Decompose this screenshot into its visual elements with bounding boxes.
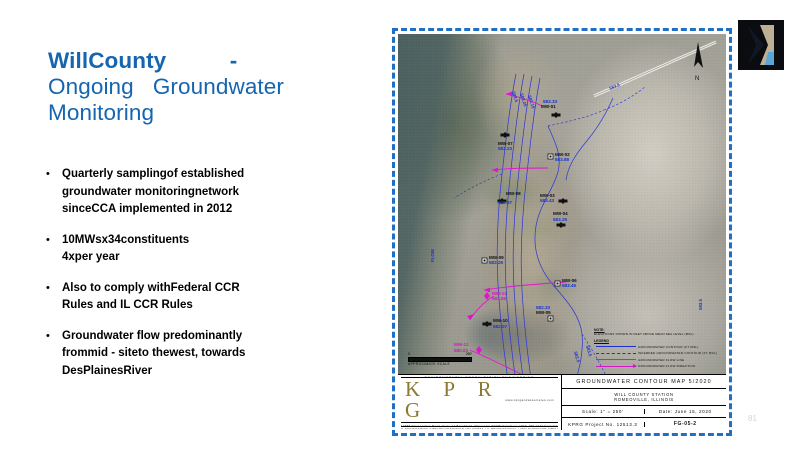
station-info: WILL COUNTY STATION ROMEOVILLE, ILLINOIS [562,389,726,405]
svg-text:583.33: 583.33 [543,99,557,104]
svg-text:583.5: 583.5 [698,298,703,310]
well-marker-mw-03: MW-03 583.43 [540,193,568,204]
title-block-info-panel: GROUNDWATER CONTOUR MAP 5/2020 WILL COUN… [562,375,726,430]
solid-blue-line-icon [594,344,638,349]
svg-text:583.88: 583.88 [555,157,569,162]
groundwater-contour-map[interactable]: 583.5 583.25 583.15 583.5 FLOW 582.5 583… [392,28,732,436]
bullet-text: 10MWsx34constituents 4xper year [62,232,376,267]
firm-logo-row: K P R G www.kprgandassociates.com [401,377,558,423]
map-overlay-layer: 583.5 583.25 583.15 583.5 FLOW 582.5 583… [398,34,726,430]
presentation-slide: WillCounty - Ongoing Groundwater Monitor… [0,0,800,450]
well-marker-mw-08: MW-08 582.37 [498,191,522,205]
legend-item-inferred-contour: INFERRED GROUNDWATER CONTOUR (FT MSL) [594,351,722,356]
bullet-marker-icon: • [46,166,50,184]
date-value: Date: June 15, 2020 [645,409,727,414]
map-title-block: ENVIRONMENTAL CONSULTATION ENGINEERING K… [398,374,726,430]
page-title: WillCounty - Ongoing Groundwater Monitor… [48,48,368,126]
svg-text:MW-05: MW-05 [536,310,551,315]
list-item: • Quarterly samplingof established groun… [46,166,376,219]
svg-text:MW-04: MW-04 [553,211,568,216]
svg-text:582.07: 582.07 [493,324,507,329]
scale-value: Scale: 1" = 250' [562,409,645,414]
well-marker-mw-07: MW-07 583.23 [498,132,513,151]
svg-text:583.43: 583.43 [540,198,554,203]
dashed-blue-line-icon [594,351,638,356]
svg-text:582.37: 582.37 [498,200,512,205]
magenta-line-icon [594,357,638,362]
well-marker-mw-02: MW-02 583.88 [548,152,570,162]
bullet-list: • Quarterly samplingof established groun… [46,166,376,393]
brand-logo-mark [738,20,784,70]
firm-address-line-2: IL ENGINEERING FIRM REGISTRATION 184-003… [401,426,558,429]
figure-number: FG-05-2 [645,421,727,427]
bullet-text: Quarterly samplingof established groundw… [62,166,376,219]
map-title-text: GROUNDWATER CONTOUR MAP 5/2020 [562,375,726,389]
svg-text:MW-08: MW-08 [506,191,521,196]
bullet-marker-icon: • [46,280,50,298]
legend-item-contour: GROUNDWATER CONTOUR (FT MSL) [594,344,722,349]
legend-item-label: GROUNDWATER FLOW DIRECTION [638,364,695,368]
bullet-marker-icon: • [46,232,50,250]
svg-text:583.25: 583.25 [519,93,528,108]
svg-text:MW-10: MW-10 [493,318,508,323]
svg-text:583.23: 583.23 [498,146,512,151]
svg-text:583.25: 583.25 [553,217,567,222]
well-marker-mw-01: MW-01 583.33 [541,99,561,118]
slide-number: 81 [748,414,757,423]
legend-item-label: GROUNDWATER FLOW LINE [638,358,684,362]
scale-bar-caption: APPROXIMATE SCALE [408,362,472,366]
svg-text:583.5: 583.5 [585,345,593,357]
project-figure-row: KPRG Project No. 12513.3 FG-05-2 [562,418,726,430]
svg-text:583.15: 583.15 [527,95,536,110]
map-legend: NOTE: ELEVATIONS SHOWN IN FEET ABOVE MEA… [594,328,722,370]
title-line-2: Ongoing Groundwater [48,74,368,100]
svg-text:582.66: 582.66 [492,296,506,301]
map-canvas: 583.5 583.25 583.15 583.5 FLOW 582.5 583… [398,34,726,430]
legend-title: LEGEND [594,339,722,343]
magenta-arrow-icon [594,364,638,369]
svg-text:MW-01: MW-01 [541,104,556,109]
title-block-firm-panel: ENVIRONMENTAL CONSULTATION ENGINEERING K… [398,375,562,430]
flow-lines [470,94,566,398]
svg-text:582.33: 582.33 [536,305,550,310]
project-number: KPRG Project No. 12513.3 [562,422,645,427]
well-marker-mw-09: MW-09 583.26 [482,255,504,265]
bullet-text: Also to comply withFederal CCR Rules and… [62,280,376,315]
well-marker-mw-11: MW-11 582.66 [484,291,507,301]
list-item: • 10MWsx34constituents 4xper year [46,232,376,267]
bullet-marker-icon: • [46,328,50,346]
legend-item-label: INFERRED GROUNDWATER CONTOUR (FT MSL) [638,351,717,355]
svg-text:N: N [695,76,699,82]
well-marker-mw-05: MW-05 582.33 [536,305,553,321]
kprg-logo: K P R G [405,379,505,421]
well-marker-mw-06: MW-06 583.46 [555,278,577,288]
legend-item-label: GROUNDWATER CONTOUR (FT MSL) [638,345,698,349]
flow-arrowheads [467,92,564,401]
svg-text:MW-12: MW-12 [454,342,469,347]
list-item: • Also to comply withFederal CCR Rules a… [46,280,376,315]
svg-text:582.5: 582.5 [573,351,581,363]
scale-bar-left-label: 0 [408,352,410,356]
scale-bar-right-label: 250' [466,352,472,356]
legend-item-flow-direction: GROUNDWATER FLOW DIRECTION [594,364,722,369]
bullet-text: Groundwater flow predominantly frommid -… [62,328,376,381]
scale-bar-graphic [408,357,472,362]
map-scale-bar: 0 250' APPROXIMATE SCALE [408,352,472,366]
list-item: • Groundwater flow predominantly frommid… [46,328,376,381]
well-marker-mw-10: MW-10 582.07 [483,318,509,329]
title-line-3: Monitoring [48,100,368,126]
scale-bar-ticks: 0 250' [408,352,472,356]
svg-text:583.26: 583.26 [489,260,503,265]
station-location: ROMEOVILLE, ILLINOIS [614,397,674,403]
svg-text:FLOW: FLOW [430,248,435,262]
title-line-1: WillCounty - [48,48,368,74]
scale-date-row: Scale: 1" = 250' Date: June 15, 2020 [562,406,726,419]
firm-url: www.kprgandassociates.com [505,398,554,402]
svg-text:583.46: 583.46 [562,283,576,288]
legend-item-flow-line: GROUNDWATER FLOW LINE [594,357,722,362]
brand-logo [738,20,784,70]
legend-note-text: ELEVATIONS SHOWN IN FEET ABOVE MEAN SEA … [594,332,722,336]
well-marker-mw-04: MW-04 583.25 [553,211,568,228]
